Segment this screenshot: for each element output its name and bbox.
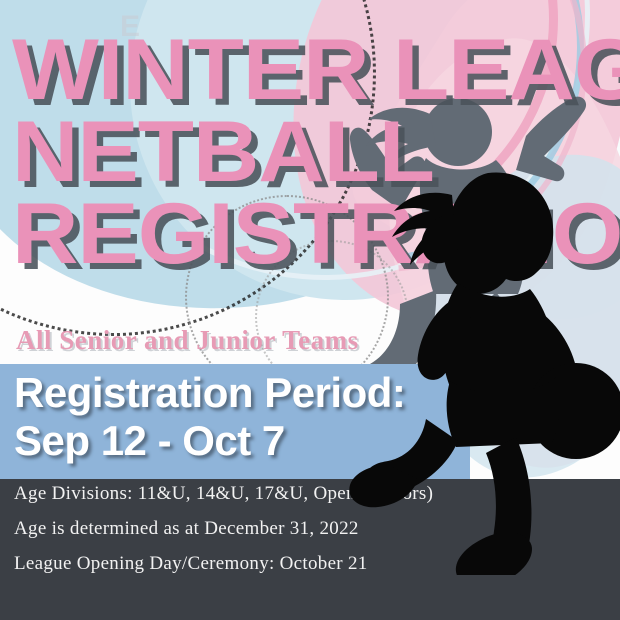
poster-subheadline: All Senior and Junior Teams [16, 325, 359, 356]
netball-registration-poster: E TEAMS TEAMS [0, 0, 620, 620]
netball-player-with-ball-silhouette [330, 165, 620, 575]
